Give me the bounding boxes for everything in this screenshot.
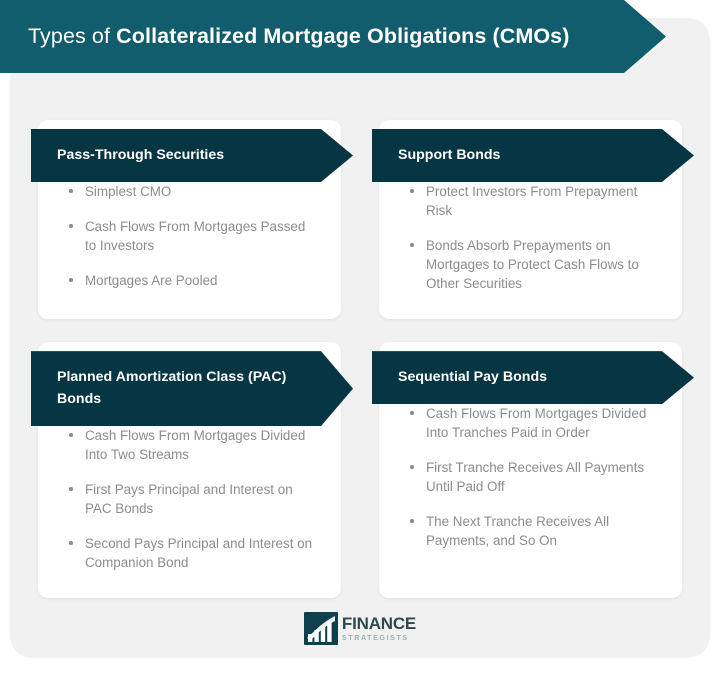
list-item: Simplest CMO (69, 182, 319, 201)
card-header-tab: Support Bonds (372, 129, 694, 182)
card-row-2: Planned Amortization Class (PAC) Bonds C… (38, 342, 682, 598)
finance-strategists-chart-icon (304, 612, 338, 645)
list-item: Mortgages Are Pooled (69, 271, 319, 290)
list-item: Cash Flows From Mortgages Divided Into T… (69, 426, 319, 464)
card-header-tab: Planned Amortization Class (PAC) Bonds (31, 351, 353, 426)
list-item: Second Pays Principal and Interest on Co… (69, 534, 319, 572)
brand-logo: FINANCE STRATEGISTS (304, 612, 416, 645)
card-support-bonds: Support Bonds Protect Investors From Pre… (379, 120, 682, 319)
card-title: Planned Amortization Class (PAC) Bonds (31, 367, 353, 410)
card-grid: Pass-Through Securities Simplest CMO Cas… (38, 120, 682, 598)
list-item: Protect Investors From Prepayment Risk (410, 182, 660, 220)
banner-header: Types of Collateralized Mortgage Obligat… (0, 0, 666, 73)
card-pass-through-securities: Pass-Through Securities Simplest CMO Cas… (38, 120, 341, 319)
card-bullet-list: Protect Investors From Prepayment Risk B… (379, 182, 682, 293)
list-item: The Next Tranche Receives All Payments, … (410, 512, 660, 550)
list-item: First Tranche Receives All Payments Unti… (410, 458, 660, 496)
page-title-emphasis: Collateralized Mortgage Obligations (CMO… (116, 24, 569, 48)
card-title: Sequential Pay Bonds (372, 367, 581, 388)
list-item: Cash Flows From Mortgages Passed to Inve… (69, 217, 319, 255)
card-bullet-list: Cash Flows From Mortgages Divided Into T… (379, 404, 682, 550)
card-header-tab: Sequential Pay Bonds (372, 351, 694, 404)
card-sequential-pay-bonds: Sequential Pay Bonds Cash Flows From Mor… (379, 342, 682, 598)
card-bullet-list: Cash Flows From Mortgages Divided Into T… (38, 426, 341, 572)
card-row-1: Pass-Through Securities Simplest CMO Cas… (38, 120, 682, 319)
card-bullet-list: Simplest CMO Cash Flows From Mortgages P… (38, 182, 341, 290)
card-header-tab: Pass-Through Securities (31, 129, 353, 182)
page-title-prefix: Types of (28, 24, 116, 48)
card-title: Support Bonds (372, 145, 534, 166)
list-item: First Pays Principal and Interest on PAC… (69, 480, 319, 518)
card-title: Pass-Through Securities (31, 145, 258, 166)
brand-name: FINANCE (342, 615, 416, 632)
card-planned-amortization-class-bonds: Planned Amortization Class (PAC) Bonds C… (38, 342, 341, 598)
page-title: Types of Collateralized Mortgage Obligat… (0, 24, 570, 50)
infographic-root: Types of Collateralized Mortgage Obligat… (0, 0, 720, 676)
list-item: Cash Flows From Mortgages Divided Into T… (410, 404, 660, 442)
brand-subtitle: STRATEGISTS (342, 634, 416, 641)
footer: FINANCE STRATEGISTS (0, 612, 720, 645)
list-item: Bonds Absorb Prepayments on Mortgages to… (410, 236, 660, 293)
brand-logo-text: FINANCE STRATEGISTS (342, 615, 416, 641)
